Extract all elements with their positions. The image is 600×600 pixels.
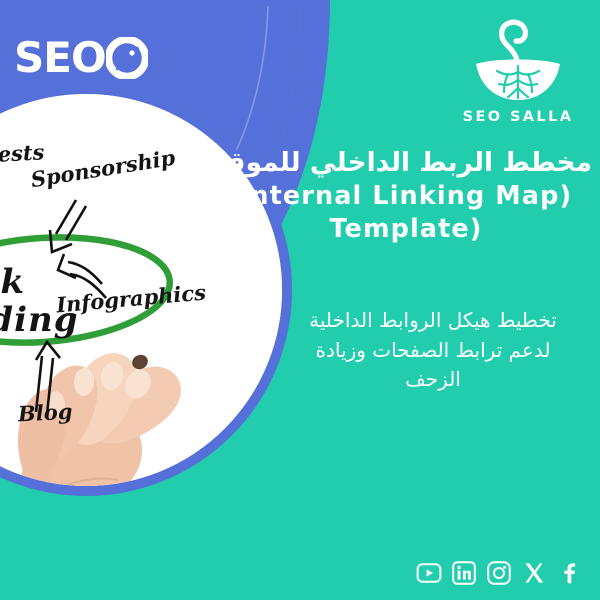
seo-badge: SEO [14, 32, 124, 84]
rocket-icon [106, 37, 148, 79]
diagram-label-blog: Blog [17, 399, 73, 427]
x-twitter-icon[interactable] [521, 560, 547, 586]
title-line-arabic: مخطط الربط الداخلي للموقع [220, 146, 592, 180]
brand-logo: SEO SALLA [458, 12, 578, 134]
diagram-center-label-link: Link [0, 262, 25, 302]
linkedin-icon[interactable] [451, 560, 477, 586]
page-title: مخطط الربط الداخلي للموقع (Internal Link… [220, 146, 592, 245]
title-line-english-1: (Internal Linking Map [220, 180, 592, 213]
instagram-icon[interactable] [486, 560, 512, 586]
page-subtitle: تخطيط هيكل الروابط الداخلية لدعم ترابط ا… [290, 306, 576, 395]
seo-salla-root-logo-icon [464, 12, 572, 108]
social-links-bar [416, 560, 582, 586]
brand-name: SEO SALLA [463, 109, 574, 125]
title-line-english-2: (Template [220, 213, 592, 246]
facebook-icon[interactable] [556, 560, 582, 586]
youtube-icon[interactable] [416, 560, 442, 586]
seo-badge-word: SEO [14, 37, 106, 79]
